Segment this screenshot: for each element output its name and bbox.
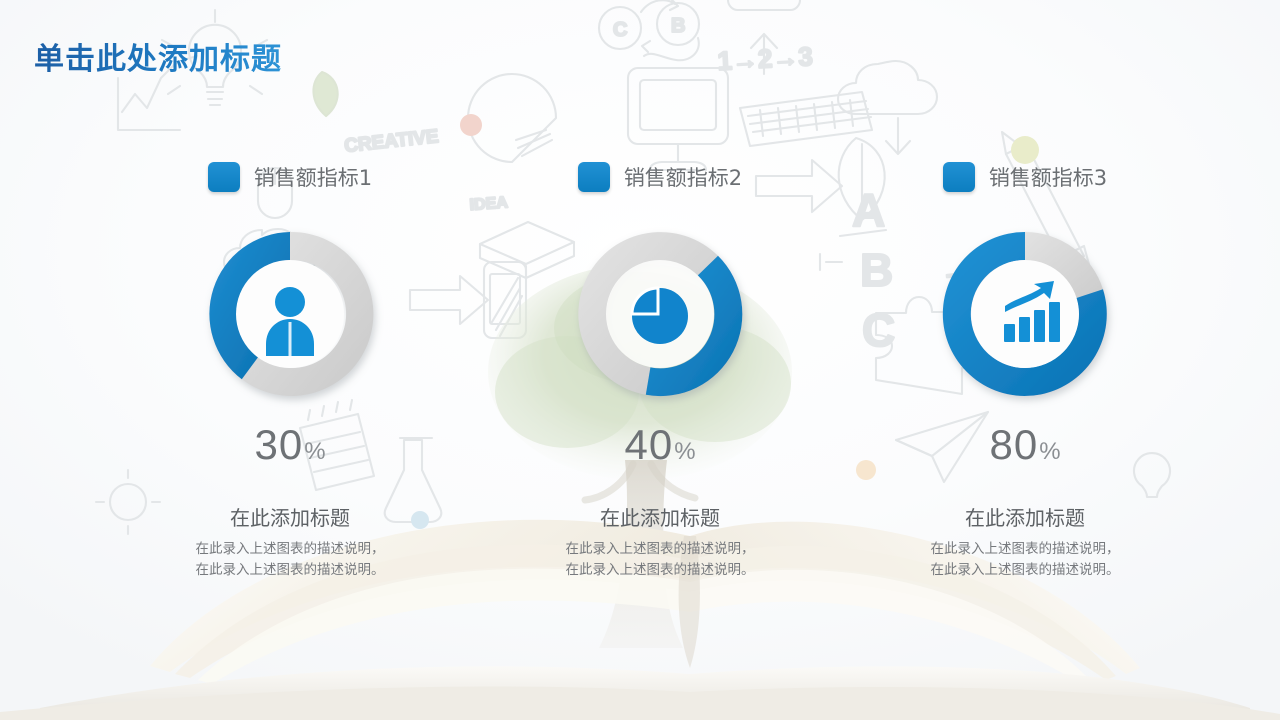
caption-line-3b: 在此录入上述图表的描述说明。 (931, 560, 1120, 581)
percent-value-3: 80 (989, 424, 1038, 466)
percent-value-2: 40 (624, 424, 673, 466)
legend-3: 销售额指标3 (943, 160, 1107, 194)
metrics-row: 销售额指标1 (0, 0, 1280, 720)
metric-column-2: 销售额指标2 (470, 160, 850, 581)
legend-swatch-1 (208, 162, 240, 192)
metric-column-3: 销售额指标3 (835, 160, 1215, 581)
caption-line-3a: 在此录入上述图表的描述说明， (931, 539, 1120, 560)
caption-heading-2: 在此添加标题 (600, 502, 720, 531)
donut-chart-2[interactable] (560, 214, 760, 414)
legend-label-1: 销售额指标1 (254, 162, 372, 192)
caption-body-2: 在此录入上述图表的描述说明， 在此录入上述图表的描述说明。 (566, 539, 755, 581)
slide-canvas: CREATIVE IDEA C (0, 0, 1280, 720)
caption-heading-1: 在此添加标题 (230, 502, 350, 531)
percent-symbol-2: % (674, 440, 695, 464)
percent-symbol-1: % (304, 440, 325, 464)
legend-1: 销售额指标1 (208, 160, 372, 194)
pie-chart-icon (632, 288, 688, 344)
percent-2: 40 % (624, 424, 695, 466)
caption-line-1a: 在此录入上述图表的描述说明， (196, 539, 385, 560)
percent-symbol-3: % (1039, 440, 1060, 464)
caption-heading-3: 在此添加标题 (965, 502, 1085, 531)
caption-line-2a: 在此录入上述图表的描述说明， (566, 539, 755, 560)
percent-1: 30 % (254, 424, 325, 466)
caption-line-2b: 在此录入上述图表的描述说明。 (566, 560, 755, 581)
caption-body-3: 在此录入上述图表的描述说明， 在此录入上述图表的描述说明。 (931, 539, 1120, 581)
donut-chart-3[interactable] (925, 214, 1125, 414)
legend-label-3: 销售额指标3 (989, 162, 1107, 192)
legend-swatch-3 (943, 162, 975, 192)
legend-2: 销售额指标2 (578, 160, 742, 194)
percent-value-1: 30 (254, 424, 303, 466)
legend-swatch-2 (578, 162, 610, 192)
metric-column-1: 销售额指标1 (100, 160, 480, 581)
caption-line-1b: 在此录入上述图表的描述说明。 (196, 560, 385, 581)
caption-body-1: 在此录入上述图表的描述说明， 在此录入上述图表的描述说明。 (196, 539, 385, 581)
legend-label-2: 销售额指标2 (624, 162, 742, 192)
percent-3: 80 % (989, 424, 1060, 466)
donut-chart-1[interactable] (190, 214, 390, 414)
